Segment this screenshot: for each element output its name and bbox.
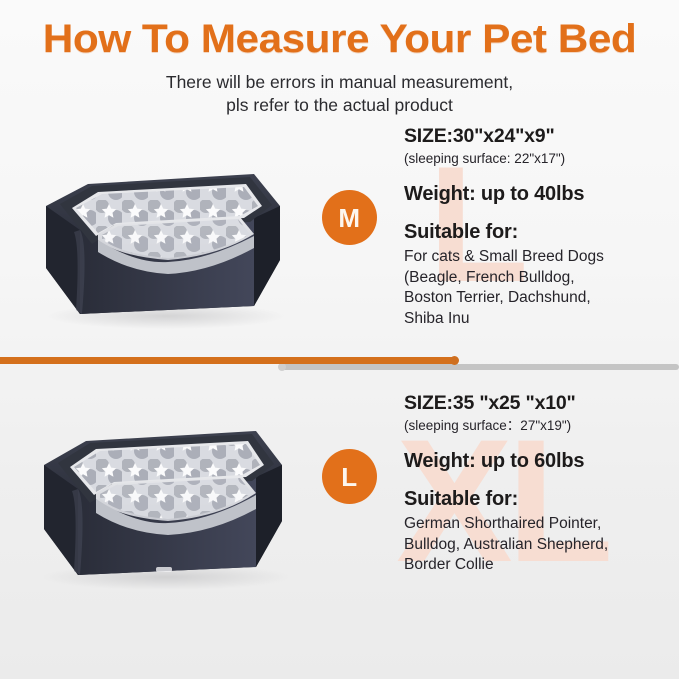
size-dimensions-l: SIZE:35 "x25 "x10" <box>404 391 676 415</box>
section-divider <box>0 355 679 375</box>
breed-list-l: German Shorthaired Pointer, Bulldog, Aus… <box>404 514 676 576</box>
sleeping-surface-m: (sleeping surface: 22"x17") <box>404 149 676 168</box>
divider-dot-orange <box>450 356 459 365</box>
size-badge-l: L <box>322 449 377 504</box>
spec-block-medium: SIZE:30"x24"x9" (sleeping surface: 22"x1… <box>404 124 676 329</box>
breed-line: Bulldog, Australian Shepherd, <box>404 535 676 556</box>
subtitle-line-2: pls refer to the actual product <box>0 94 679 117</box>
breed-line: German Shorthaired Pointer, <box>404 514 676 535</box>
header: How To Measure Your Pet Bed There will b… <box>0 0 679 117</box>
pet-bed-photo-large <box>18 407 303 597</box>
weight-capacity-l: Weight: up to 60lbs <box>404 449 676 474</box>
size-section-large: L SIZE:35 "x25 "x10" (sleeping surface：2… <box>0 389 679 604</box>
weight-capacity-m: Weight: up to 40lbs <box>404 182 676 207</box>
breed-line: Boston Terrier, Dachshund, <box>404 288 676 309</box>
breed-line: For cats & Small Breed Dogs <box>404 247 676 268</box>
sleeping-surface-l: (sleeping surface：27"x19") <box>404 416 676 435</box>
suitable-label-l: Suitable for: <box>404 487 676 512</box>
page-title: How To Measure Your Pet Bed <box>0 19 679 59</box>
subtitle-line-1: There will be errors in manual measureme… <box>0 71 679 94</box>
breed-line: Border Collie <box>404 555 676 576</box>
divider-bar-orange <box>0 357 456 364</box>
breed-list-m: For cats & Small Breed Dogs (Beagle, Fre… <box>404 247 676 329</box>
pet-bed-photo-medium <box>18 148 303 338</box>
size-badge-m: M <box>322 190 377 245</box>
breed-line: Shiba Inu <box>404 309 676 330</box>
size-dimensions-m: SIZE:30"x24"x9" <box>404 124 676 148</box>
subtitle: There will be errors in manual measureme… <box>0 71 679 117</box>
size-section-medium: M SIZE:30"x24"x9" (sleeping surface: 22"… <box>0 124 679 339</box>
spec-block-large: SIZE:35 "x25 "x10" (sleeping surface：27"… <box>404 391 676 576</box>
divider-dot-gray <box>278 363 286 371</box>
divider-bar-gray <box>280 364 679 370</box>
suitable-label-m: Suitable for: <box>404 220 676 245</box>
breed-line: (Beagle, French Bulldog, <box>404 268 676 289</box>
